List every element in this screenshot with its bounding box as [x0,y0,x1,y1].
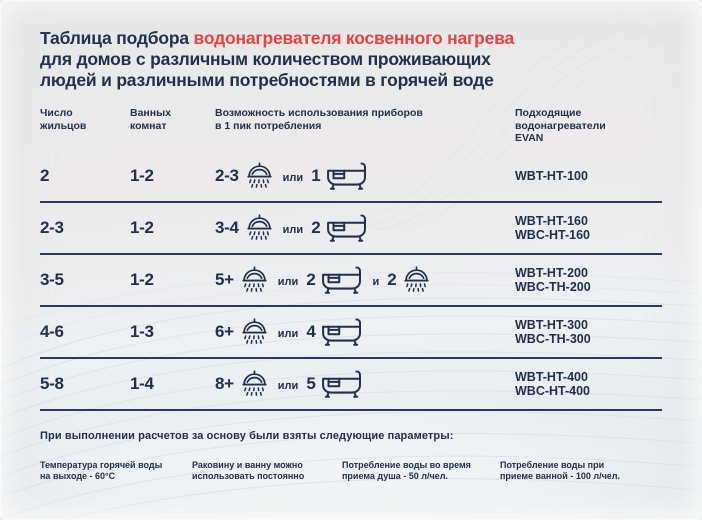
device-quantity: 2 [306,270,315,290]
cell-people-count: 3-5 [40,270,130,290]
cell-devices: 2-3или1 [215,161,515,192]
footer-note: Потребление воды во времяприема душа - 5… [342,460,500,482]
shower-icon [401,265,432,296]
shower-icon [239,317,270,348]
cell-devices: 8+или5 [215,369,515,400]
footer-note: Температура горячей водына выходе - 60°С [40,460,192,482]
conjunction-label: или [278,328,299,340]
footer-note-line2: на выходе - 60°С [40,471,192,482]
model-name: WBC-HT-400 [515,384,662,399]
shower-icon [244,213,275,244]
footer-note-line1: Потребление воды во время [342,460,500,471]
device-group: 3-4или2 [215,213,515,244]
footer-note-line2: использовать постоянно [192,471,342,482]
device-quantity: 2-3 [215,166,239,186]
column-header-people: Число жильцов [40,107,130,132]
table-row: 2-31-23-4или2WBT-HT-160WBC-HT-160 [40,203,662,255]
shower-icon [244,161,275,192]
title-line-2: для домов с различным количеством прожив… [40,49,662,70]
page-title: Таблица подбора водонагревателя косвенно… [40,0,662,91]
footer-note-line1: Потребление воды при [500,460,660,471]
cell-people-count: 2-3 [40,218,130,238]
title-line-1: Таблица подбора водонагревателя косвенно… [40,28,662,49]
column-header-devices: Возможность использования приборов в 1 п… [215,107,515,132]
footer-note-line1: Температура горячей воды [40,460,192,471]
cell-model-list: WBT-HT-100 [515,169,662,184]
footer-notes: При выполнении расчетов за основу были в… [0,430,702,482]
column-header-models-line1: Подходящие [515,107,662,120]
cell-bathroom-count: 1-2 [130,270,215,290]
footer-note: Потребление воды приприеме ванной - 100 … [500,460,660,482]
conjunction-label: или [278,276,299,288]
column-header-baths-line1: Ванных [130,107,215,120]
column-header-models-line3: EVAN [515,132,662,145]
device-group: 8+или5 [215,369,515,400]
column-header-models-line2: водонагреватели [515,120,662,133]
device-quantity: 2 [387,270,396,290]
device-quantity: 5+ [215,270,234,290]
device-quantity: 4 [306,322,315,342]
model-name: WBT-HT-300 [515,318,662,333]
poster-root: Таблица подбора водонагревателя косвенно… [0,0,702,520]
model-name: WBT-HT-200 [515,266,662,281]
column-header-baths-line2: комнат [130,120,215,133]
column-header-baths: Ванных комнат [130,107,215,132]
conjunction-label: или [278,380,299,392]
table-body: 21-22-3или1WBT-HT-1002-31-23-4или2WBT-HT… [40,151,662,411]
device-quantity: 2 [311,218,320,238]
bathtub-icon [320,265,364,296]
shower-icon [239,265,270,296]
bathtub-icon [325,161,369,192]
cell-people-count: 4-6 [40,322,130,342]
column-header-people-line2: жильцов [40,120,130,133]
model-name: WBC-TH-300 [515,332,662,347]
device-quantity: 3-4 [215,218,239,238]
cell-bathroom-count: 1-2 [130,218,215,238]
conjunction-label: или [283,172,304,184]
device-group: 5+или2и2 [215,265,515,296]
device-group: 2-3или1 [215,161,515,192]
footer-note-line2: приеме ванной - 100 л/чел. [500,471,660,482]
cell-bathroom-count: 1-2 [130,166,215,186]
table-header-row: Число жильцов Ванных комнат Возможность … [40,107,662,151]
footer-heading: При выполнении расчетов за основу были в… [40,430,662,442]
title-line-3: людей и различными потребностями в горяч… [40,70,662,91]
selection-table: Число жильцов Ванных комнат Возможность … [40,107,662,411]
model-name: WBT-HT-400 [515,370,662,385]
column-header-people-line1: Число [40,107,130,120]
device-quantity: 5 [306,374,315,394]
cell-bathroom-count: 1-4 [130,374,215,394]
footer-note-columns: Температура горячей водына выходе - 60°С… [40,460,662,482]
model-name: WBT-HT-160 [515,214,662,229]
footer-note-line1: Раковину и ванну можно [192,460,342,471]
cell-model-list: WBT-HT-300WBC-TH-300 [515,318,662,347]
cell-model-list: WBT-HT-400WBC-HT-400 [515,370,662,399]
model-name: WBC-TH-200 [515,280,662,295]
title-prefix: Таблица подбора [40,28,194,48]
cell-bathroom-count: 1-3 [130,322,215,342]
cell-model-list: WBT-HT-200WBC-TH-200 [515,266,662,295]
device-quantity: 1 [311,166,320,186]
device-quantity: 6+ [215,322,234,342]
column-header-models: Подходящие водонагреватели EVAN [515,107,662,145]
shower-icon [239,369,270,400]
table-row: 21-22-3или1WBT-HT-100 [40,151,662,203]
table-row: 4-61-36+или4WBT-HT-300WBC-TH-300 [40,307,662,359]
footer-note: Раковину и ванну можноиспользовать посто… [192,460,342,482]
column-header-devices-line2: в 1 пик потребления [215,120,515,133]
device-group: 6+или4 [215,317,515,348]
cell-devices: 3-4или2 [215,213,515,244]
cell-model-list: WBT-HT-160WBC-HT-160 [515,214,662,243]
conjunction-label: или [283,224,304,236]
device-quantity: 8+ [215,374,234,394]
column-header-devices-line1: Возможность использования приборов [215,107,515,120]
model-name: WBC-HT-160 [515,228,662,243]
cell-people-count: 5-8 [40,374,130,394]
footer-note-line2: приема душа - 50 л/чел. [342,471,500,482]
title-accent: водонагревателя косвенного нагрева [194,28,514,48]
table-row: 5-81-48+или5WBT-HT-400WBC-HT-400 [40,359,662,411]
table-row: 3-51-25+или2и2WBT-HT-200WBC-TH-200 [40,255,662,307]
cell-devices: 5+или2и2 [215,265,515,296]
model-name: WBT-HT-100 [515,169,662,184]
bathtub-icon [325,213,369,244]
bathtub-icon [320,317,364,348]
bathtub-icon [320,369,364,400]
conjunction-label: и [372,276,379,288]
cell-devices: 6+или4 [215,317,515,348]
cell-people-count: 2 [40,166,130,186]
